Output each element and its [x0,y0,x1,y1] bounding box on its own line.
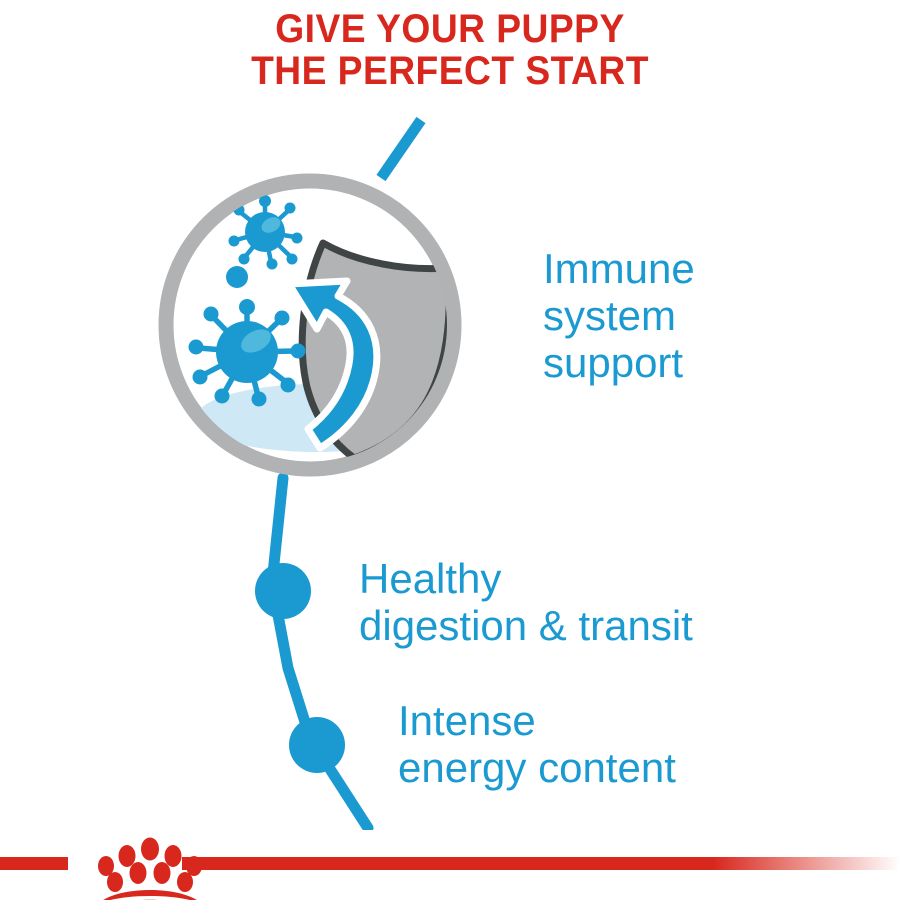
footer-brand-bar [0,820,900,900]
connector-node [255,563,311,619]
benefit-line: Immune [543,245,695,292]
benefit-line: system [543,292,695,339]
benefit-healthy-digestion-transit: Healthy digestion & transit [359,555,693,649]
royal-canin-crown-logo [97,838,203,900]
benefit-intense-energy-content: Intense energy content [398,697,676,791]
brand-bar-left [0,857,68,870]
benefit-line: digestion & transit [359,602,693,649]
virus-dot [226,266,248,288]
benefit-line: support [543,339,695,386]
connector-node [289,717,345,773]
benefit-immune-system-support: Immune system support [543,245,695,386]
benefit-line: Healthy [359,555,693,602]
benefit-line: energy content [398,744,676,791]
puppy-benefits-poster: GIVE YOUR PUPPY THE PERFECT START [0,0,900,900]
brand-bar-right [182,857,900,870]
benefit-line: Intense [398,697,676,744]
